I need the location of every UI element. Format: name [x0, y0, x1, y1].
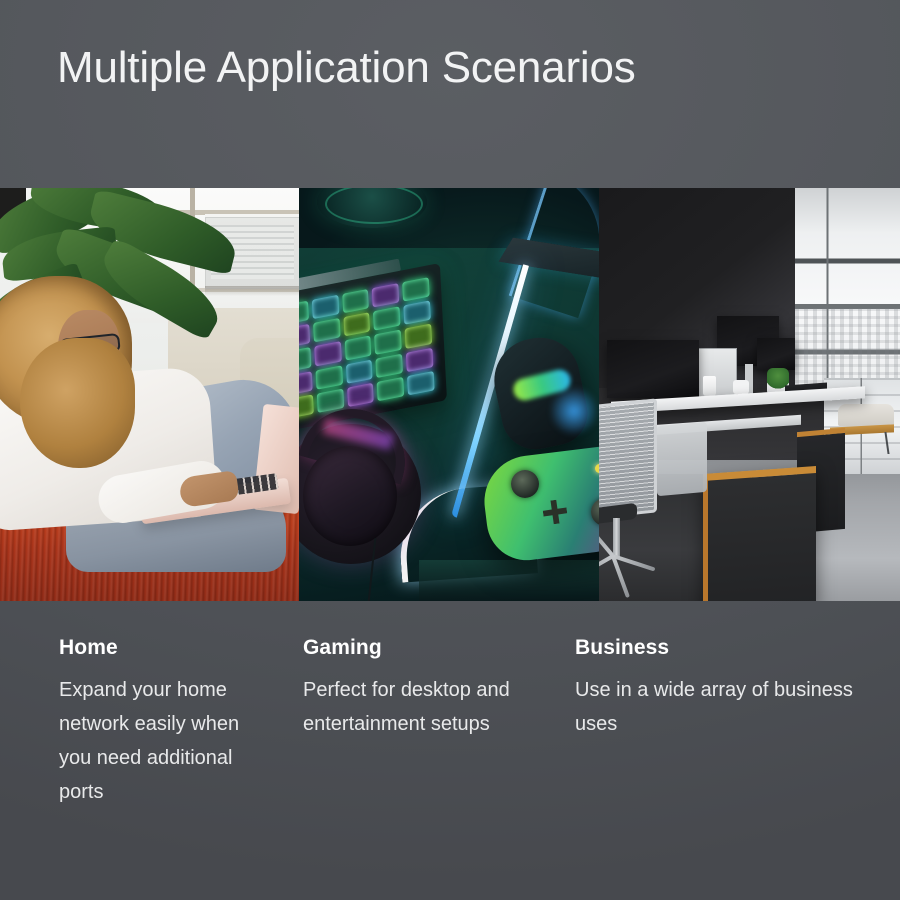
office-monitor [607, 340, 699, 398]
desk-mug [733, 380, 749, 394]
scenario-caption-gaming: Gaming Perfect for desktop and entertain… [271, 636, 543, 809]
keycap [344, 336, 371, 360]
keycap [315, 365, 342, 389]
keycap [313, 318, 340, 342]
caption-body-home: Expand your home network easily when you… [59, 673, 243, 809]
caption-heading-home: Home [59, 636, 243, 659]
keycap [299, 371, 312, 395]
office-chair-backrest [599, 398, 657, 519]
scenario-image-business [599, 188, 900, 601]
mousepad [419, 560, 599, 601]
keycap [343, 312, 370, 336]
keycap [405, 324, 432, 348]
page-title: Multiple Application Scenarios [57, 44, 636, 92]
person-hair-lower [20, 338, 135, 468]
keycap [299, 301, 309, 325]
keycap [299, 348, 311, 372]
scenario-captions: Home Expand your home network easily whe… [0, 636, 900, 809]
keycap [346, 359, 373, 383]
scenario-image-strip [0, 188, 900, 601]
keycap [312, 295, 339, 319]
office-cabinet [703, 466, 816, 601]
scenario-image-gaming [299, 188, 599, 601]
office-chair-far [657, 422, 707, 496]
caption-heading-business: Business [575, 636, 872, 659]
keycap [402, 277, 429, 301]
keycap [406, 347, 433, 371]
paper-coffee-cup [703, 376, 716, 396]
keycap [404, 301, 431, 325]
keycap [299, 324, 310, 348]
application-scenarios-page: Multiple Application Scenarios [0, 0, 900, 900]
keycap [375, 330, 402, 354]
caption-body-gaming: Perfect for desktop and entertainment se… [303, 673, 515, 741]
keycap [372, 283, 399, 307]
caption-body-business: Use in a wide array of business uses [575, 673, 872, 741]
keycap [373, 306, 400, 330]
keycap [342, 289, 369, 313]
gaming-mouse-blue-glow [551, 384, 597, 438]
keycap [376, 353, 403, 377]
keycap [314, 342, 341, 366]
scenario-image-home [0, 188, 299, 601]
headset-earcup [303, 446, 397, 546]
scenario-caption-home: Home Expand your home network easily whe… [0, 636, 271, 809]
air-conditioner-shadow [205, 286, 299, 296]
office-monitor [757, 338, 795, 370]
caption-heading-gaming: Gaming [303, 636, 515, 659]
desk-privacy-divider [695, 348, 737, 398]
office-lounge-sofa [838, 404, 894, 426]
office-chair-base [599, 552, 659, 586]
controller-thumbstick [511, 470, 539, 498]
scenario-caption-business: Business Use in a wide array of business… [543, 636, 900, 809]
